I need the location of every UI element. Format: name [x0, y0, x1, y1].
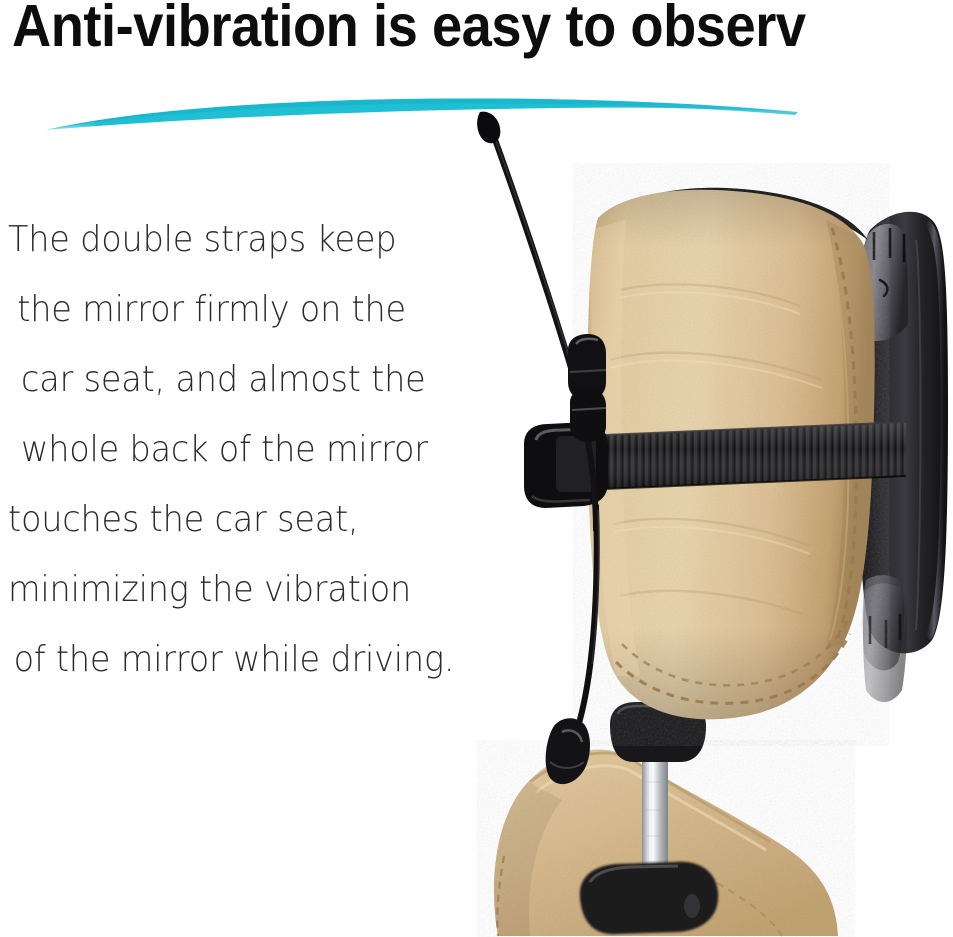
product-feature-page: Anti-vibration is easy to observ The dou…: [0, 0, 953, 937]
body-line-6: minimizing the vibration: [8, 555, 473, 625]
body-line-3: car seat, and almost the: [8, 345, 473, 415]
post-guide-sleeve-lower: [580, 862, 718, 934]
body-paragraph: The double straps keep the mirror firmly…: [8, 205, 508, 695]
body-line-5: touches the car seat,: [8, 485, 473, 555]
body-line-1: The double straps keep: [8, 205, 473, 275]
body-line-7: of the mirror while driving.: [8, 625, 473, 695]
cord-clip-mid: [570, 388, 606, 442]
body-line-4: whole back of the mirror: [8, 415, 473, 485]
product-photo: [470, 110, 953, 937]
body-line-2: the mirror firmly on the: [8, 275, 473, 345]
page-title: Anti-vibration is easy to observ: [12, 0, 953, 58]
